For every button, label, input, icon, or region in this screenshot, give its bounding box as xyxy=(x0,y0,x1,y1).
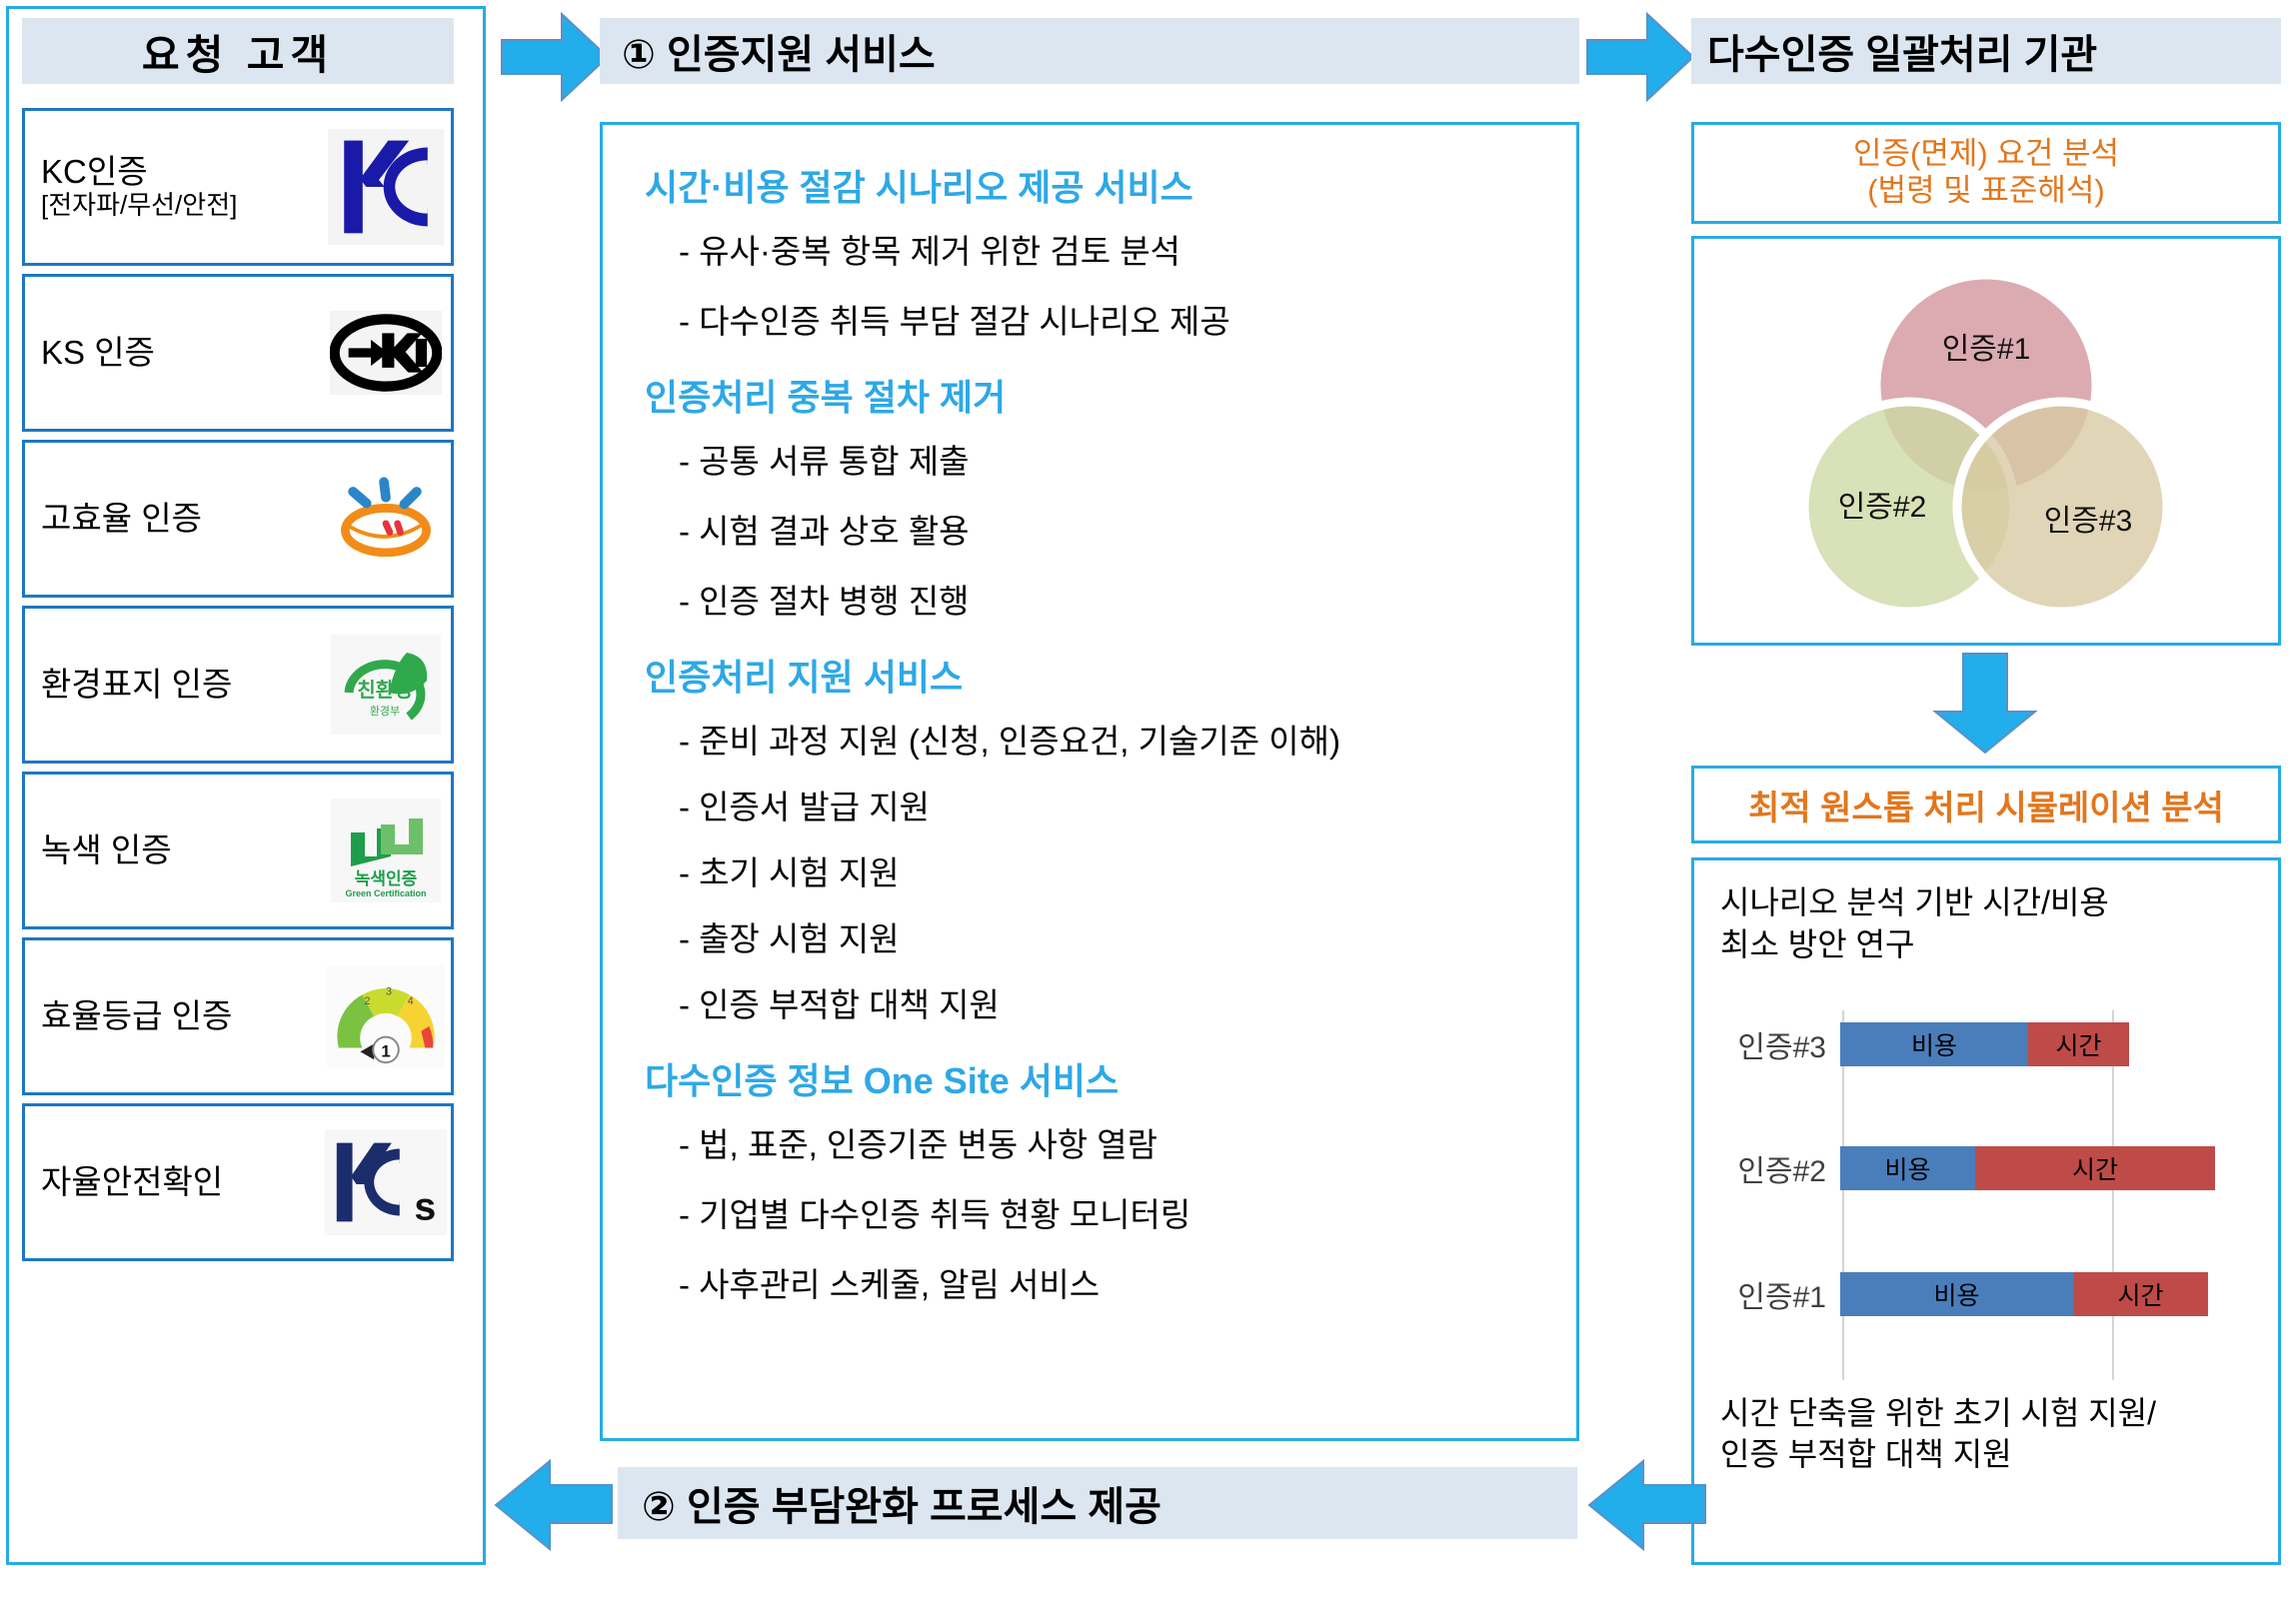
middle-sections: 시간·비용 절감 시나리오 제공 서비스 - 유사·중복 항목 제거 위한 검토… xyxy=(603,125,1576,1438)
cert-item-efficiency-grade[interactable]: 효율등급 인증 2 3 4 1 xyxy=(22,937,454,1095)
bar-segment-time: 시간 xyxy=(2028,1022,2129,1066)
cert-label: KS 인증 xyxy=(25,335,321,372)
venn-label-2: 인증#2 xyxy=(1838,491,1927,524)
cert-item-self-safety[interactable]: 자율안전확인 s xyxy=(22,1103,454,1261)
section-bullet: - 공통 서류 통합 제출 xyxy=(679,435,1546,483)
green-certification-logo: 녹색인증 Green Certification xyxy=(321,775,451,926)
bar-track: 비용 시간 xyxy=(1840,1146,2258,1190)
kc-mark-logo xyxy=(321,111,451,263)
chart-category-label: 인증#1 xyxy=(1720,1272,1840,1316)
bar-segment-cost: 비용 xyxy=(1840,1022,2028,1066)
venn-label-1: 인증#1 xyxy=(1942,333,2031,366)
section-bullet: - 인증 절차 병행 진행 xyxy=(679,575,1546,623)
arrow-right-top-2 xyxy=(1585,8,1695,106)
middle-panel-title: ① 인증지원 서비스 xyxy=(600,18,1579,84)
certification-support-service-panel: 시간·비용 절감 시나리오 제공 서비스 - 유사·중복 항목 제거 위한 검토… xyxy=(600,122,1579,1441)
section-bullet: - 출장 시험 지원 xyxy=(679,912,1546,960)
svg-text:녹색인증: 녹색인증 xyxy=(355,869,418,888)
requirement-line-2: (법령 및 표준해석) xyxy=(1867,173,2105,210)
cost-time-bar-chart: 인증#3 비용 시간 인증#2 비용 시간 인증#1 비용 시간 xyxy=(1720,1010,2258,1380)
efficiency-grade-gauge-logo: 2 3 4 1 xyxy=(321,940,451,1092)
bar-segment-cost: 비용 xyxy=(1840,1146,1975,1190)
cert-label: 효율등급 인증 xyxy=(25,998,321,1035)
diagram-canvas: 요청 고객 KC인증 [전자파/무선/안전] KS 인증 xyxy=(0,0,2296,1602)
requirement-analysis-box: 인증(면제) 요건 분석 (법령 및 표준해석) xyxy=(1691,122,2281,224)
cert-item-high-efficiency[interactable]: 고효율 인증 xyxy=(22,440,454,598)
bar-segment-time: 시간 xyxy=(1975,1146,2215,1190)
svg-text:친환경: 친환경 xyxy=(357,679,412,702)
arrow-left-bottom xyxy=(492,1457,614,1553)
arrow-down xyxy=(1929,652,2041,756)
cert-item-ks[interactable]: KS 인증 xyxy=(22,274,454,432)
chart-category-label: 인증#3 xyxy=(1720,1022,1840,1066)
section-heading-0: 시간·비용 절감 시나리오 제공 서비스 xyxy=(645,159,1546,211)
simulation-title-box: 최적 원스톱 처리 시뮬레이션 분석 xyxy=(1691,766,2281,843)
svg-text:1: 1 xyxy=(381,1041,390,1060)
simulation-lead-text: 시나리오 분석 기반 시간/비용 최소 방안 연구 xyxy=(1720,882,2109,965)
venn-diagram-box: 인증#1 인증#2 인증#3 xyxy=(1691,236,2281,646)
section-bullet: - 법, 표준, 인증기준 변동 사항 열람 xyxy=(679,1118,1546,1166)
section-bullet: - 다수인증 취득 부담 절감 시나리오 제공 xyxy=(679,295,1546,343)
ks-mark-logo xyxy=(321,277,451,429)
cert-label: KC인증 [전자파/무선/안전] xyxy=(25,154,321,220)
simulation-panel: 시나리오 분석 기반 시간/비용 최소 방안 연구 인증#3 비용 시간 인증#… xyxy=(1691,857,2281,1565)
section-bullet: - 인증 부적합 대책 지원 xyxy=(679,978,1546,1026)
svg-text:s: s xyxy=(414,1184,436,1228)
section-bullet: - 준비 과정 지원 (신청, 인증요건, 기술기준 이해) xyxy=(679,715,1546,763)
arrow-right-top xyxy=(500,8,610,106)
cert-label: 자율안전확인 xyxy=(25,1164,321,1201)
bar-segment-time: 시간 xyxy=(2073,1272,2208,1316)
cert-item-eco-label[interactable]: 환경표지 인증 친환경 환경부 xyxy=(22,606,454,764)
requirement-analysis-text: 인증(면제) 요건 분석 (법령 및 표준해석) xyxy=(1694,125,2278,221)
section-bullet: - 인증서 발급 지원 xyxy=(679,781,1546,828)
svg-text:2: 2 xyxy=(364,995,370,1007)
cert-label: 환경표지 인증 xyxy=(25,667,321,704)
section-heading-3: 다수인증 정보 One Site 서비스 xyxy=(645,1052,1546,1104)
bottom-title: ② 인증 부담완화 프로세스 제공 xyxy=(618,1467,1577,1539)
section-heading-2: 인증처리 지원 서비스 xyxy=(645,649,1546,701)
bar-track: 비용 시간 xyxy=(1840,1272,2258,1316)
high-efficiency-logo xyxy=(321,443,451,595)
svg-text:환경부: 환경부 xyxy=(370,705,400,718)
venn-label-3: 인증#3 xyxy=(2044,505,2133,538)
arrow-left-bottom-2 xyxy=(1585,1457,1707,1553)
chart-row-cert2: 인증#2 비용 시간 xyxy=(1720,1142,2258,1194)
svg-text:3: 3 xyxy=(386,985,392,997)
section-heading-1: 인증처리 중복 절차 제거 xyxy=(645,369,1546,421)
eco-label-logo: 친환경 환경부 xyxy=(321,609,451,761)
simulation-footer-text: 시간 단축을 위한 초기 시험 지원/ 인증 부적합 대책 지원 xyxy=(1720,1393,2156,1476)
kcs-mark-logo: s xyxy=(321,1106,451,1258)
section-bullet: - 시험 결과 상호 활용 xyxy=(679,505,1546,553)
right-panel-title: 다수인증 일괄처리 기관 xyxy=(1691,18,2281,84)
section-bullet: - 초기 시험 지원 xyxy=(679,846,1546,894)
cert-item-green[interactable]: 녹색 인증 녹색인증 Green Certification xyxy=(22,772,454,929)
cert-item-kc[interactable]: KC인증 [전자파/무선/안전] xyxy=(22,108,454,266)
left-panel-title: 요청 고객 xyxy=(22,18,454,84)
section-bullet: - 사후관리 스케줄, 알림 서비스 xyxy=(679,1258,1546,1306)
venn-diagram: 인증#1 인증#2 인증#3 xyxy=(1694,239,2278,643)
section-bullet: - 기업별 다수인증 취득 현황 모니터링 xyxy=(679,1188,1546,1236)
chart-row-cert3: 인증#3 비용 시간 xyxy=(1720,1018,2258,1070)
requirement-line-1: 인증(면제) 요건 분석 xyxy=(1853,136,2119,173)
bar-track: 비용 시간 xyxy=(1840,1022,2258,1066)
section-bullet: - 유사·중복 항목 제거 위한 검토 분석 xyxy=(679,225,1546,273)
cert-label: 녹색 인증 xyxy=(25,832,321,869)
chart-category-label: 인증#2 xyxy=(1720,1146,1840,1190)
bar-segment-cost: 비용 xyxy=(1840,1272,2073,1316)
chart-row-cert1: 인증#1 비용 시간 xyxy=(1720,1268,2258,1320)
simulation-title-text: 최적 원스톱 처리 시뮬레이션 분석 xyxy=(1694,769,2278,840)
cert-label: 고효율 인증 xyxy=(25,501,321,538)
svg-text:4: 4 xyxy=(408,995,414,1007)
svg-text:Green Certification: Green Certification xyxy=(345,888,426,898)
